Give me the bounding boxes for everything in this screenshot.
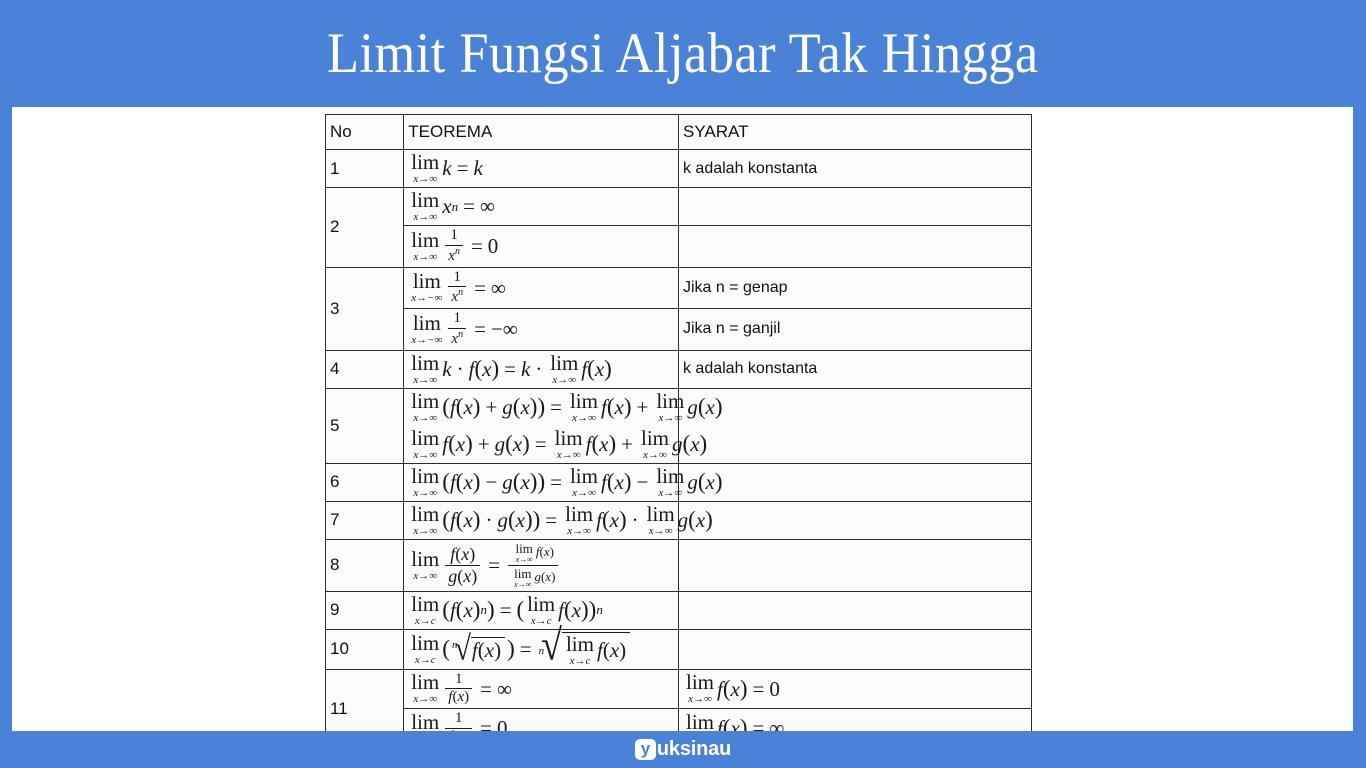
table-row: 5 limx→∞ (f(x) +g(x)) = limx→∞ f(x) + [326, 388, 1032, 463]
syarat-cell [678, 591, 1031, 629]
syarat-cell: k adalah konstanta [678, 150, 1031, 188]
syarat-cell: limx→∞ f(x) =0 [678, 669, 1031, 709]
formula-reciprocal-equals-inf: limx→∞ 1 f(x) =∞ [408, 672, 512, 707]
formula-cell: limx→−∞ 1xn =−∞ [404, 309, 679, 351]
page-title: Limit Fungsi Aljabar Tak Hingga [327, 25, 1039, 82]
content-panel: No TEOREMA SYARAT 1 limx→∞ k=k k adalah … [12, 107, 1353, 731]
formula-cell: limx→−∞ 1xn =∞ [404, 267, 679, 309]
formula-sum-rule-parenthesized: limx→∞ (f(x) +g(x)) = limx→∞ f(x) + limx… [408, 391, 674, 424]
row-number: 4 [326, 350, 404, 388]
row-number: 8 [326, 539, 404, 591]
formula-product-rule: limx→∞ (f(x) ·g(x)) = limx→∞ f(x) · limx… [408, 504, 713, 537]
formula-lim-xn-equals-inf: limx→∞ xn=∞ [408, 190, 495, 223]
row-number: 5 [326, 388, 404, 463]
row-number: 9 [326, 591, 404, 629]
syarat-cell [678, 188, 1031, 226]
syarat-cell [678, 463, 1031, 501]
syarat-cell [678, 629, 1031, 669]
theorem-table: No TEOREMA SYARAT 1 limx→∞ k=k k adalah … [325, 114, 1032, 749]
formula-lim-neg-inf-one-over-xn-equals-neg-inf: limx→−∞ 1xn =−∞ [408, 311, 518, 348]
formula-lim-neg-inf-one-over-xn-equals-inf: limx→−∞ 1xn =∞ [408, 270, 506, 307]
table-header-row: No TEOREMA SYARAT [326, 115, 1032, 150]
formula-power-rule: limx→c (f(x)n) = ( limx→c f(x))n [408, 594, 603, 627]
formula-cell: limx→∞ (f(x) ·g(x)) = limx→∞ f(x) · limx… [404, 501, 679, 539]
header-teorema: TEOREMA [404, 115, 679, 150]
table-row: 8 limx→∞ f(x) g(x) = limx→∞f(x) [326, 539, 1032, 591]
table-row: 1 limx→∞ k=k k adalah konstanta [326, 150, 1032, 188]
formula-cell: limx→∞ k=k [404, 150, 679, 188]
formula-quotient-rule: limx→∞ f(x) g(x) = limx→∞f(x) [408, 542, 561, 589]
header-no: No [326, 115, 404, 150]
syarat-cell [678, 501, 1031, 539]
formula-cell: limx→∞ k·f(x) =k· limx→∞ f(x) [404, 350, 679, 388]
table-row: 10 limx→c ( n√ f(x) ) = n√ [326, 629, 1032, 669]
row-number: 10 [326, 629, 404, 669]
formula-cell: limx→∞ (f(x) −g(x)) = limx→∞ f(x) − limx… [404, 463, 679, 501]
syarat-cell: k adalah konstanta [678, 350, 1031, 388]
syarat-cell: Jika n = genap [678, 267, 1031, 309]
row-number: 1 [326, 150, 404, 188]
table-row: 6 limx→∞ (f(x) −g(x)) = limx→∞ f(x) − li… [326, 463, 1032, 501]
title-banner: Limit Fungsi Aljabar Tak Hingga [0, 0, 1366, 107]
formula-lim-one-over-xn-equals-zero: limx→∞ 1xn =0 [408, 228, 498, 265]
formula-constant-multiple-rule: limx→∞ k·f(x) =k· limx→∞ f(x) [408, 353, 612, 386]
table-row: limx→∞ 1xn =0 [326, 226, 1032, 268]
logo-badge-icon: y [635, 739, 656, 760]
formula-cell: limx→∞ f(x) g(x) = limx→∞f(x) [404, 539, 679, 591]
table-row: 11 limx→∞ 1 f(x) =∞ limx [326, 669, 1032, 709]
row-number: 3 [326, 267, 404, 350]
theorem-table-wrapper: No TEOREMA SYARAT 1 limx→∞ k=k k adalah … [325, 114, 1032, 749]
formula-root-rule: limx→c ( n√ f(x) ) = n√ limx→c [408, 632, 632, 667]
row-number: 2 [326, 188, 404, 268]
footer-bar: y uksinau [0, 731, 1366, 768]
formula-cell: limx→∞ (f(x) +g(x)) = limx→∞ f(x) + limx… [404, 388, 679, 463]
table-row: 2 limx→∞ xn=∞ [326, 188, 1032, 226]
slide-root: Limit Fungsi Aljabar Tak Hingga No TEORE… [0, 0, 1366, 768]
header-syarat: SYARAT [678, 115, 1031, 150]
row-number: 7 [326, 501, 404, 539]
formula-cell: limx→∞ 1xn =0 [404, 226, 679, 268]
formula-cell: limx→c ( n√ f(x) ) = n√ limx→c [404, 629, 679, 669]
formula-difference-rule: limx→∞ (f(x) −g(x)) = limx→∞ f(x) − limx… [408, 466, 722, 499]
table-row: 9 limx→c (f(x)n) = ( limx→c f(x))n [326, 591, 1032, 629]
formula-sum-rule-unparenthesized: limx→∞ f(x) +g(x) = limx→∞ f(x) + limx→∞… [408, 428, 674, 461]
row-number: 6 [326, 463, 404, 501]
formula-cell: limx→∞ xn=∞ [404, 188, 679, 226]
condition-lim-f-equals-zero: limx→∞ f(x) =0 [683, 672, 780, 705]
table-row: limx→−∞ 1xn =−∞ Jika n = ganjil [326, 309, 1032, 351]
syarat-cell [678, 226, 1031, 268]
formula-cell: limx→∞ 1 f(x) =∞ [404, 669, 679, 709]
table-row: 7 limx→∞ (f(x) ·g(x)) = limx→∞ f(x) · li… [326, 501, 1032, 539]
yuksinau-logo[interactable]: y uksinau [635, 738, 731, 761]
syarat-cell [678, 388, 1031, 463]
table-row: 3 limx→−∞ 1xn =∞ Jika n = genap [326, 267, 1032, 309]
table-row: 4 limx→∞ k·f(x) =k· limx→∞ f(x) k adalah… [326, 350, 1032, 388]
logo-text: uksinau [657, 738, 731, 761]
formula-lim-k-equals-k: limx→∞ k=k [408, 152, 483, 185]
syarat-cell: Jika n = ganjil [678, 309, 1031, 351]
syarat-cell [678, 539, 1031, 591]
formula-stack: limx→∞ (f(x) +g(x)) = limx→∞ f(x) + limx… [408, 391, 674, 461]
